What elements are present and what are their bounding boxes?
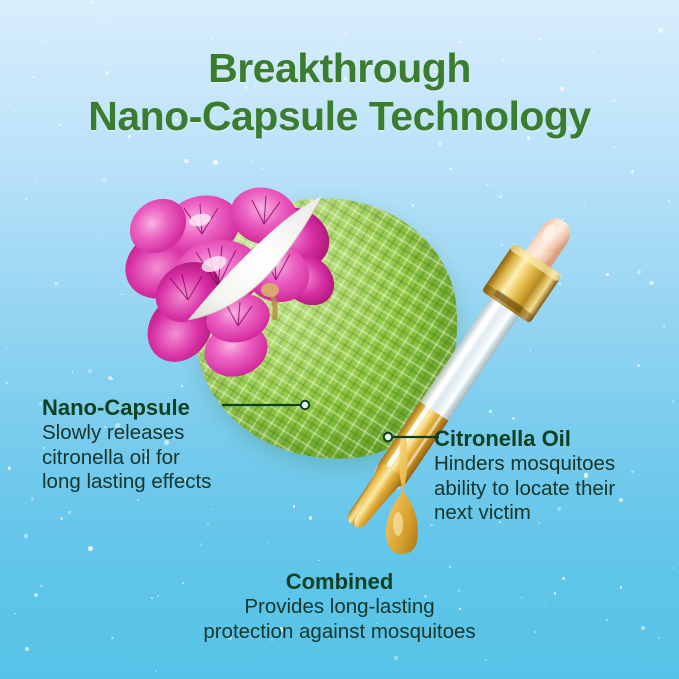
leader-line-nano-capsule <box>222 398 314 417</box>
callout-citronella-oil-line-3: next victim <box>434 501 615 526</box>
dropper-icon <box>330 188 570 588</box>
callout-citronella-oil: Citronella Oil Hinders mosquitoes abilit… <box>434 427 615 526</box>
peel-flap-icon <box>182 192 332 324</box>
callout-citronella-oil-heading: Citronella Oil <box>434 427 615 450</box>
callout-citronella-oil-line-1: Hinders mosquitoes <box>434 452 615 477</box>
callout-combined: Combined Provides long-lasting protectio… <box>0 570 679 644</box>
callout-combined-line-1: Provides long-lasting <box>0 595 679 620</box>
infographic-canvas: Breakthrough Nano-Capsule Technology <box>0 0 679 679</box>
callout-nano-capsule-line-3: long lasting effects <box>42 470 211 495</box>
title-line-2: Nano-Capsule Technology <box>0 92 679 140</box>
callout-combined-heading: Combined <box>0 570 679 593</box>
callout-nano-capsule-line-2: citronella oil for <box>42 446 211 471</box>
callout-nano-capsule-line-1: Slowly releases <box>42 421 211 446</box>
callout-nano-capsule-heading: Nano-Capsule <box>42 396 211 419</box>
callout-combined-line-2: protection against mosquitoes <box>0 620 679 645</box>
leader-line-citronella-oil <box>383 430 439 449</box>
page-title: Breakthrough Nano-Capsule Technology <box>0 44 679 141</box>
title-line-1: Breakthrough <box>0 44 679 92</box>
callout-nano-capsule: Nano-Capsule Slowly releases citronella … <box>42 396 211 495</box>
callout-citronella-oil-body: Hinders mosquitoes ability to locate the… <box>434 452 615 526</box>
callout-combined-body: Provides long-lasting protection against… <box>0 595 679 644</box>
callout-nano-capsule-body: Slowly releases citronella oil for long … <box>42 421 211 495</box>
callout-citronella-oil-line-2: ability to locate their <box>434 477 615 502</box>
